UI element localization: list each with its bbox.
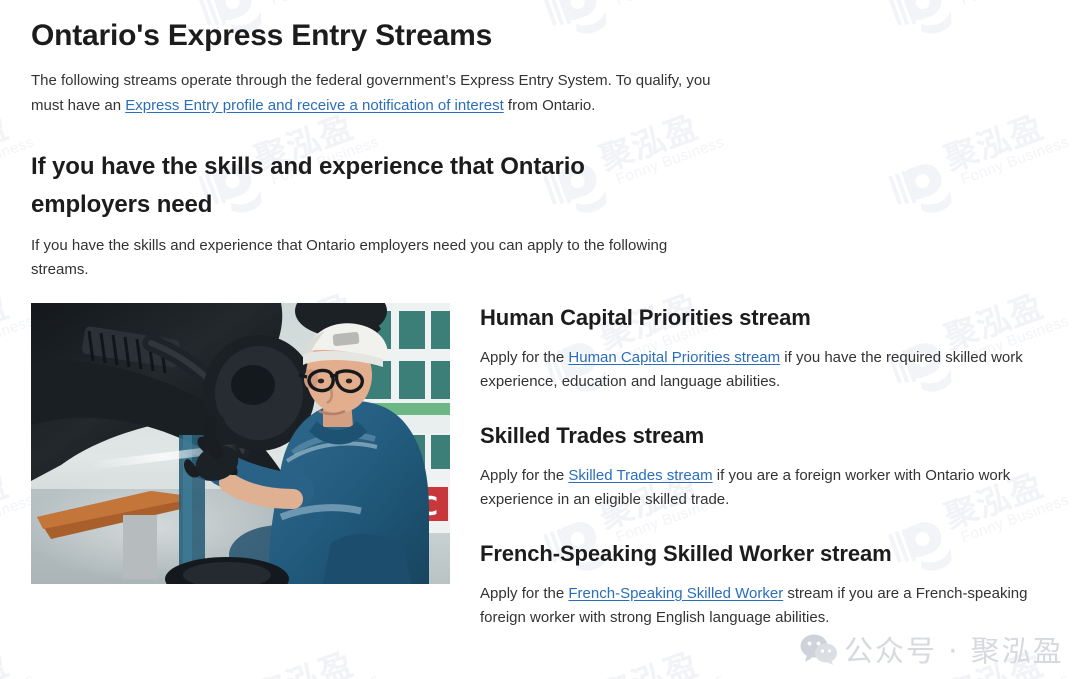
intro-text-after: from Ontario. [504, 97, 596, 114]
watermark-cn-text: 聚泓盈 [937, 0, 1049, 2]
watermark-en-text: Fonny Business [959, 0, 1072, 9]
stream-paragraph-human-capital-priorities: Apply for the Human Capital Priorities s… [480, 346, 1058, 394]
watermark-cn-text: 聚泓盈 [247, 638, 359, 679]
section-paragraph: If you have the skills and experience th… [31, 234, 721, 282]
stream-text-before-2: Apply for the [480, 585, 568, 602]
watermark-cn-text: 聚泓盈 [0, 0, 14, 2]
watermark-cn-text: 聚泓盈 [0, 459, 14, 539]
watermark-en-text: Fonny Business [269, 0, 382, 9]
mechanic-under-vehicle-photo: <— [31, 303, 450, 584]
watermark-cn-text: 聚泓盈 [0, 280, 14, 360]
fonny-business-logo [885, 156, 955, 224]
watermark-en-text: Fonny Business [614, 0, 727, 9]
watermark-cn-text: 聚泓盈 [937, 638, 1049, 679]
watermark-tile: 聚泓盈Fonny Business [0, 609, 88, 679]
stream-paragraph-french-speaking-skilled-worker: Apply for the French-Speaking Skilled Wo… [480, 582, 1058, 630]
watermark-cn-text: 聚泓盈 [0, 101, 14, 181]
watermark-cn-text: 聚泓盈 [0, 638, 14, 679]
stream-text-before-1: Apply for the [480, 467, 568, 484]
watermark-cn-text: 聚泓盈 [592, 638, 704, 679]
watermark-en-text: Fonny Business [959, 670, 1072, 679]
watermark-tile: 聚泓盈Fonny Business [877, 72, 1080, 235]
watermark-tile: 聚泓盈Fonny Business [877, 0, 1080, 57]
wechat-watermark-badge: 公众号 · 聚泓盈 [800, 628, 1064, 670]
watermark-en-text: Fonny Business [959, 133, 1072, 188]
human-capital-priorities-stream-link[interactable]: Human Capital Priorities stream [568, 349, 780, 366]
watermark-cn-text: 聚泓盈 [247, 0, 359, 2]
watermark-cn-text: 聚泓盈 [592, 0, 704, 2]
streams-list: Human Capital Priorities stream Apply fo… [480, 303, 1051, 630]
watermark-en-text: Fonny Business [269, 670, 382, 679]
watermark-cn-text: 聚泓盈 [937, 101, 1049, 181]
fonny-business-logo [540, 0, 610, 45]
express-entry-profile-link[interactable]: Express Entry profile and receive a noti… [125, 97, 504, 114]
french-speaking-skilled-worker-link[interactable]: French-Speaking Skilled Worker [568, 585, 783, 602]
stream-item-french-speaking-skilled-worker: French-Speaking Skilled Worker stream Ap… [480, 539, 1051, 630]
page-title: Ontario's Express Entry Streams [31, 17, 492, 55]
wechat-icon [800, 633, 838, 665]
stream-title-skilled-trades: Skilled Trades stream [480, 421, 1051, 451]
watermark-tile: 聚泓盈Fonny Business [532, 0, 779, 57]
intro-paragraph: The following streams operate through th… [31, 68, 747, 118]
stream-text-before-0: Apply for the [480, 349, 568, 366]
wechat-badge-text: 公众号 · 聚泓盈 [844, 628, 1064, 670]
watermark-tile: 聚泓盈Fonny Business [187, 609, 434, 679]
watermark-en-text: Fonny Business [0, 0, 36, 9]
stream-title-french-speaking-skilled-worker: French-Speaking Skilled Worker stream [480, 539, 1051, 569]
section-heading-skills-experience: If you have the skills and experience th… [31, 148, 691, 224]
skilled-trades-stream-link[interactable]: Skilled Trades stream [568, 467, 712, 484]
stream-paragraph-skilled-trades: Apply for the Skilled Trades stream if y… [480, 464, 1058, 512]
fonny-business-logo [885, 0, 955, 45]
stream-title-human-capital-priorities: Human Capital Priorities stream [480, 303, 1051, 333]
stream-item-skilled-trades: Skilled Trades stream Apply for the Skil… [480, 421, 1051, 512]
watermark-en-text: Fonny Business [614, 670, 727, 679]
stream-item-human-capital-priorities: Human Capital Priorities stream Apply fo… [480, 303, 1051, 394]
watermark-en-text: Fonny Business [0, 670, 36, 679]
